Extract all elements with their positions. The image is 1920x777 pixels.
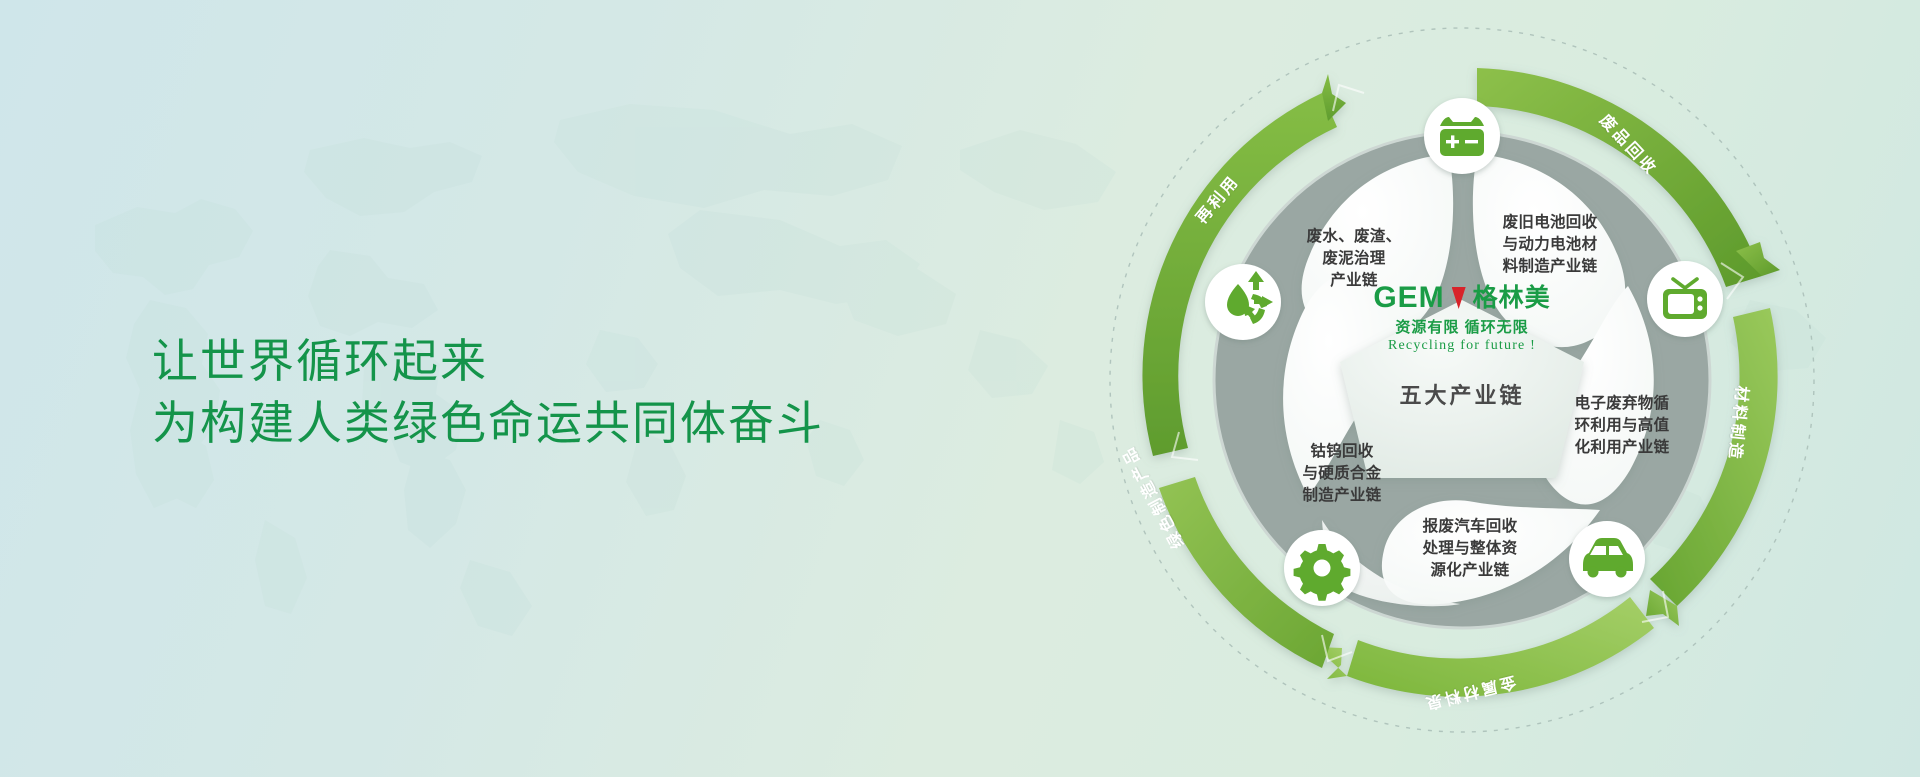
center-logo: GEM 格林美 资源有限 循环无限 Recycling for future !… — [1332, 283, 1592, 410]
segment-label-cobalt-tungsten: 钴钨回收 与硬质合金 制造产业链 — [1272, 441, 1412, 507]
seg-line: 料制造产业链 — [1474, 256, 1626, 278]
segment-label-scrap-car: 报废汽车回收 处理与整体资 源化产业链 — [1394, 516, 1546, 582]
seg-line: 与动力电池材 — [1474, 234, 1626, 256]
recycle-drop-icon-bubble — [1205, 264, 1281, 340]
seg-line: 电子废弃物循 — [1546, 393, 1698, 415]
seg-line: 废泥治理 — [1284, 248, 1424, 270]
seg-line: 与硬质合金 — [1272, 463, 1412, 485]
segment-label-waste-battery: 废旧电池回收 与动力电池材 料制造产业链 — [1474, 212, 1626, 278]
seg-line: 化利用产业链 — [1546, 437, 1698, 459]
headline-line-2: 为构建人类绿色命运共同体奋斗 — [152, 392, 824, 454]
logo-brand-cn: 格林美 — [1473, 284, 1551, 312]
headline-line-1: 让世界循环起来 — [152, 330, 824, 392]
seg-line: 制造产业链 — [1272, 485, 1412, 507]
seg-line: 报废汽车回收 — [1394, 516, 1546, 538]
headline-block: 让世界循环起来 为构建人类绿色命运共同体奋斗 — [152, 330, 824, 454]
seg-line: 处理与整体资 — [1394, 538, 1546, 560]
battery-icon-bubble — [1424, 98, 1500, 174]
seg-line: 源化产业链 — [1394, 560, 1546, 582]
logo-slogan-en: Recycling for future ! — [1332, 338, 1592, 354]
seg-line: 环利用与高值 — [1546, 415, 1698, 437]
logo-triangle-mark — [1452, 287, 1466, 309]
seg-line: 产业链 — [1284, 270, 1424, 292]
seg-line: 钴钨回收 — [1272, 441, 1412, 463]
segment-label-e-waste: 电子废弃物循 环利用与高值 化利用产业链 — [1546, 393, 1698, 459]
segment-label-waste-water: 废水、废渣、 废泥治理 产业链 — [1284, 226, 1424, 292]
car-icon-bubble — [1569, 521, 1645, 597]
television-icon-bubble — [1647, 261, 1723, 337]
logo-slogan-cn: 资源有限 循环无限 — [1332, 316, 1592, 337]
seg-line: 废旧电池回收 — [1474, 212, 1626, 234]
seg-line: 废水、废渣、 — [1284, 226, 1424, 248]
gear-icon-bubble — [1284, 530, 1360, 606]
industry-chain-diagram: GEM 格林美 资源有限 循环无限 Recycling for future !… — [1022, 8, 1902, 768]
